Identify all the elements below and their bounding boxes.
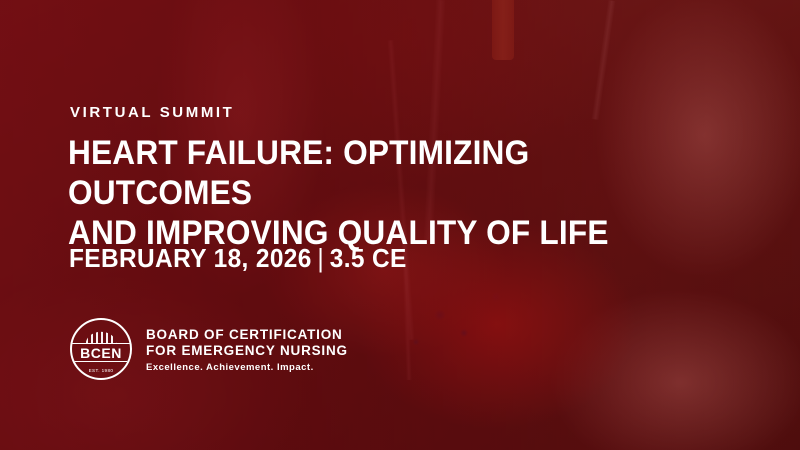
logo-band: BCEN <box>72 343 130 362</box>
logo-monogram: BCEN <box>80 346 122 360</box>
event-promo-banner: VIRTUAL SUMMIT HEART FAILURE: OPTIMIZING… <box>0 0 800 450</box>
event-date-and-credits: FEBRUARY 18, 2026|3.5 CE <box>69 243 407 274</box>
logo-wordmark: BOARD OF CERTIFICATION FOR EMERGENCY NUR… <box>146 325 348 374</box>
banner-content: VIRTUAL SUMMIT HEART FAILURE: OPTIMIZING… <box>70 0 730 450</box>
event-date: FEBRUARY 18, 2026 <box>69 243 312 273</box>
bcen-logo: BCEN EST. 1980 BOARD OF CERTIFICATION FO… <box>70 318 348 380</box>
ce-credits: 3.5 CE <box>330 243 407 273</box>
organization-tagline: Excellence. Achievement. Impact. <box>146 362 348 373</box>
logo-established-text: EST. 1980 <box>72 368 130 373</box>
event-type-label: VIRTUAL SUMMIT <box>70 104 234 121</box>
logo-rays-icon <box>76 324 126 344</box>
title-line-1: HEART FAILURE: OPTIMIZING OUTCOMES <box>68 134 663 214</box>
bcen-logo-mark-icon: BCEN EST. 1980 <box>70 318 132 380</box>
organization-name-line-2: FOR EMERGENCY NURSING <box>146 343 348 359</box>
separator: | <box>312 243 330 274</box>
page-title: HEART FAILURE: OPTIMIZING OUTCOMES AND I… <box>68 134 663 253</box>
organization-name-line-1: BOARD OF CERTIFICATION <box>146 327 348 343</box>
